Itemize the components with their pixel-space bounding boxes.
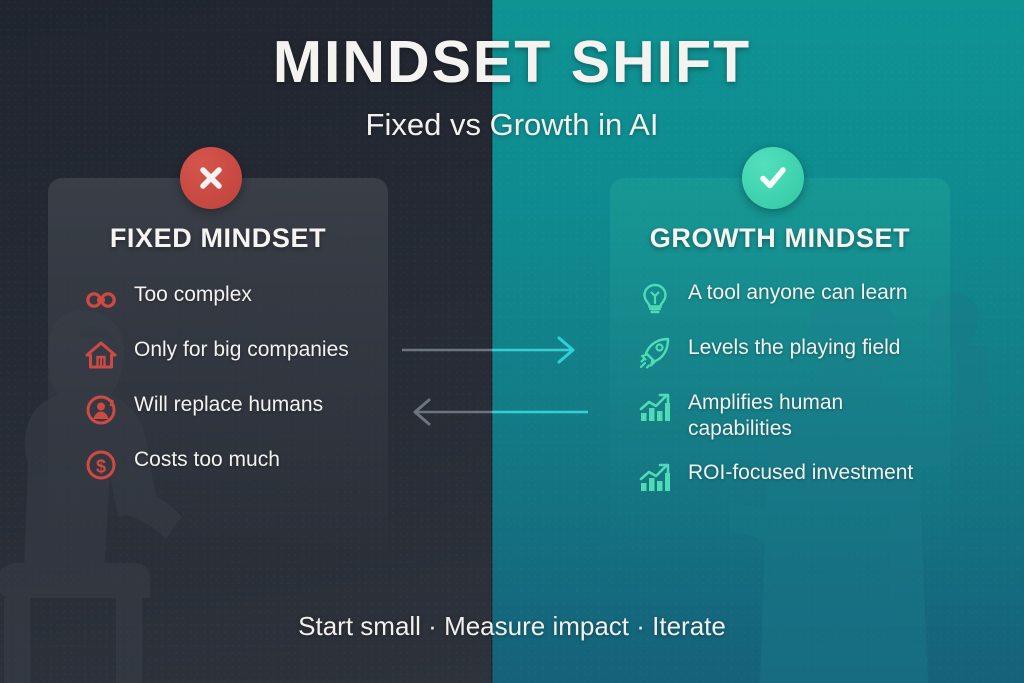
checkmark-icon — [742, 147, 804, 209]
growth-chart-icon — [636, 459, 674, 497]
list-item-label: Will replace humans — [134, 390, 323, 418]
header: MINDSET SHIFT Fixed vs Growth in AI — [0, 0, 1024, 140]
x-mark-icon — [180, 147, 242, 209]
growth-mindset-card: GROWTH MINDSET A tool anyone can learn — [610, 178, 950, 553]
fixed-mindset-list: Too complex Only for big companies — [82, 280, 370, 500]
list-item: A tool anyone can learn — [636, 278, 932, 317]
chain-link-icon — [82, 281, 120, 319]
person-replace-icon — [82, 391, 120, 429]
footer-tagline: Start small · Measure impact · Iterate — [0, 611, 1024, 642]
growth-mindset-title: GROWTH MINDSET — [610, 223, 950, 254]
list-item: ROI-focused investment — [636, 458, 932, 497]
svg-text:$: $ — [96, 457, 106, 477]
list-item-label: ROI-focused investment — [688, 458, 913, 486]
rocket-icon — [636, 334, 674, 372]
fixed-mindset-title: FIXED MINDSET — [48, 223, 388, 254]
list-item: Will replace humans — [82, 390, 370, 429]
arrow-left — [415, 400, 588, 424]
arrow-right — [402, 338, 573, 362]
list-item-label: Costs too much — [134, 445, 280, 473]
list-item: Levels the playing field — [636, 333, 932, 372]
list-item-label: Too complex — [134, 280, 252, 308]
list-item-label: Levels the playing field — [688, 333, 900, 361]
infographic-canvas: MINDSET SHIFT Fixed vs Growth in AI FIXE… — [0, 0, 1024, 683]
house-icon — [82, 336, 120, 374]
list-item-label: Amplifies human capabilities — [688, 388, 932, 442]
page-subtitle: Fixed vs Growth in AI — [0, 109, 1024, 140]
lightbulb-icon — [636, 279, 674, 317]
list-item: Only for big companies — [82, 335, 370, 374]
transition-arrows — [396, 330, 596, 440]
fixed-mindset-card: FIXED MINDSET Too complex — [48, 178, 388, 553]
growth-chart-icon — [636, 389, 674, 427]
list-item: Amplifies human capabilities — [636, 388, 932, 442]
list-item: Too complex — [82, 280, 370, 319]
list-item-label: Only for big companies — [134, 335, 349, 363]
page-title: MINDSET SHIFT — [0, 33, 1024, 92]
list-item-label: A tool anyone can learn — [688, 278, 908, 306]
list-item: $ Costs too much — [82, 445, 370, 484]
dollar-circle-icon: $ — [82, 446, 120, 484]
growth-mindset-list: A tool anyone can learn Levels the playi… — [636, 278, 932, 513]
